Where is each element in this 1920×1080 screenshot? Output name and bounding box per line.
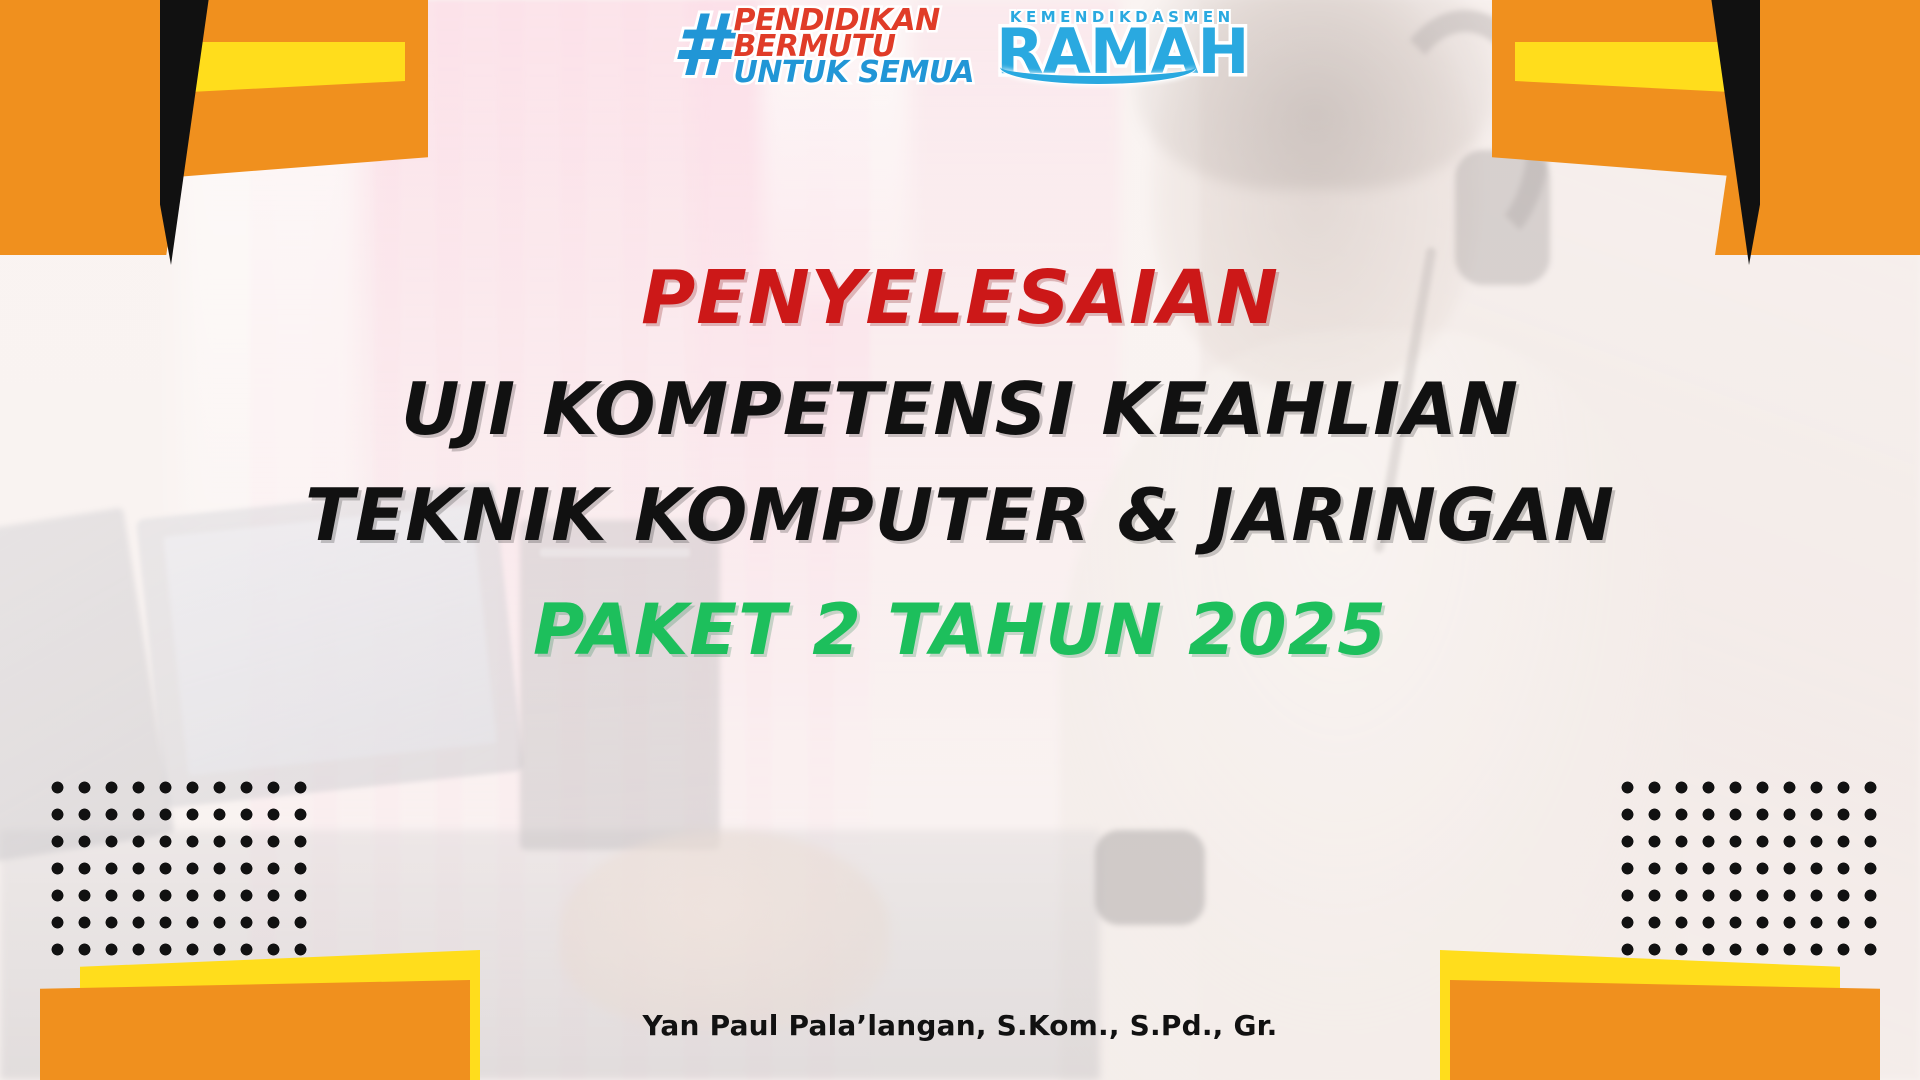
smile-swoosh-icon [1000,50,1196,84]
presenter-name: Yan Paul Pala’langan, S.Kom., S.Pd., Gr. [0,1009,1920,1042]
hashtag-icon: # [672,13,728,80]
title-line-paket-tahun: PAKET 2 TAHUN 2025 [533,589,1387,671]
kemendikdasmen-ramah-logo: KEMENDIKDASMEN RAMAH [996,8,1248,80]
title-line-teknik-komputer: TEKNIK KOMPUTER & JARINGAN [305,473,1615,557]
logo-line-untuk-semua: UNTUK SEMUA [733,60,974,86]
title-line-penyelesaian: PENYELESAIAN [641,255,1279,341]
presentation-slide: # PENDIDIKAN BERMUTU UNTUK SEMUA KEMENDI… [0,0,1920,1080]
pendidikan-bermutu-wordmark: PENDIDIKAN BERMUTU UNTUK SEMUA [733,8,974,85]
title-block: PENYELESAIAN UJI KOMPETENSI KEAHLIAN TEK… [0,255,1920,671]
decoration-dots-bottom-left [40,770,310,960]
pendidikan-bermutu-logo: # PENDIDIKAN BERMUTU UNTUK SEMUA [672,8,975,85]
title-line-uji-kompetensi: UJI KOMPETENSI KEAHLIAN [401,367,1519,451]
logo-row: # PENDIDIKAN BERMUTU UNTUK SEMUA KEMENDI… [0,8,1920,85]
decoration-dots-bottom-right [1610,770,1880,960]
